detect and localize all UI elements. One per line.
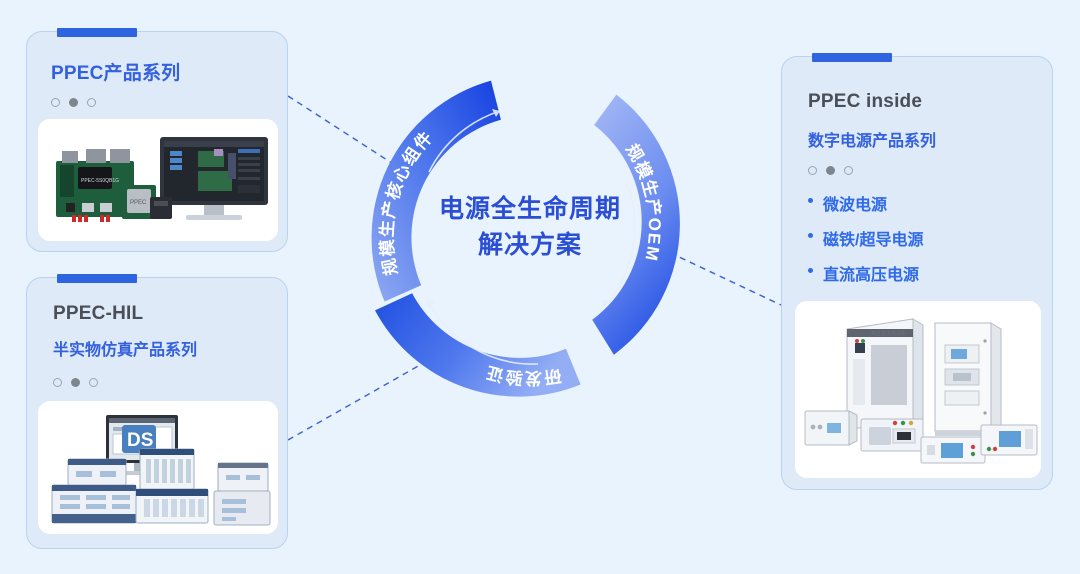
- ring-segment-oem[interactable]: [592, 95, 680, 355]
- card-title: PPEC-HIL: [53, 303, 143, 325]
- card-ppec-hil[interactable]: PPEC-HIL 半实物仿真产品系列 DS: [26, 277, 288, 549]
- svg-text:PPEC: PPEC: [130, 200, 147, 206]
- diagram-stage: PPEC产品系列: [0, 0, 1080, 574]
- pagination-dots[interactable]: [51, 98, 96, 107]
- hil-equipment-illustration: DS: [38, 401, 278, 534]
- dot-2[interactable]: [826, 166, 835, 175]
- ring-svg: 规模生产核心组件 规模生产OEM 研发验证: [355, 64, 705, 414]
- dot-2[interactable]: [71, 378, 80, 387]
- dot-3[interactable]: [87, 98, 96, 107]
- card-ppec-inside[interactable]: PPEC inside 数字电源产品系列 微波电源 磁铁/超导电源 直流高压电源: [781, 56, 1053, 490]
- dot-2[interactable]: [69, 98, 78, 107]
- card-title: PPEC产品系列: [51, 58, 180, 85]
- dot-1[interactable]: [53, 378, 62, 387]
- lifecycle-ring: 规模生产核心组件 规模生产OEM 研发验证 电源全生命周期 解决方案: [355, 64, 705, 414]
- pagination-dots[interactable]: [53, 378, 98, 387]
- product-bullet-list: 微波电源 磁铁/超导电源 直流高压电源: [808, 191, 923, 296]
- svg-text:高压直流电源柜: 高压直流电源柜: [871, 330, 906, 337]
- card-photo-inside: 高压直流电源柜: [795, 301, 1041, 478]
- svg-text:DS: DS: [127, 430, 153, 451]
- accent-bar: [57, 274, 137, 283]
- bullet-item[interactable]: 微波电源: [808, 191, 923, 215]
- accent-bar: [812, 53, 892, 62]
- dot-3[interactable]: [844, 166, 853, 175]
- card-ppec-product-series[interactable]: PPEC产品系列: [26, 31, 288, 252]
- dot-1[interactable]: [808, 166, 817, 175]
- ppec-board-illustration: PPEC-5S0QB1G PPEC: [38, 119, 278, 241]
- bullet-item[interactable]: 磁铁/超导电源: [808, 226, 923, 250]
- accent-bar: [57, 28, 137, 37]
- card-subtitle: 数字电源产品系列: [808, 127, 936, 151]
- svg-text:PPEC-5S0QB1G: PPEC-5S0QB1G: [81, 178, 119, 184]
- dot-3[interactable]: [89, 378, 98, 387]
- dot-1[interactable]: [51, 98, 60, 107]
- card-photo-ppec: PPEC-5S0QB1G PPEC: [38, 119, 278, 241]
- card-title: PPEC inside: [808, 91, 922, 113]
- card-photo-hil: DS: [38, 401, 278, 534]
- bullet-item[interactable]: 直流高压电源: [808, 261, 923, 285]
- power-supply-illustration: 高压直流电源柜: [795, 301, 1041, 478]
- card-subtitle: 半实物仿真产品系列: [53, 336, 197, 360]
- pagination-dots[interactable]: [808, 166, 853, 175]
